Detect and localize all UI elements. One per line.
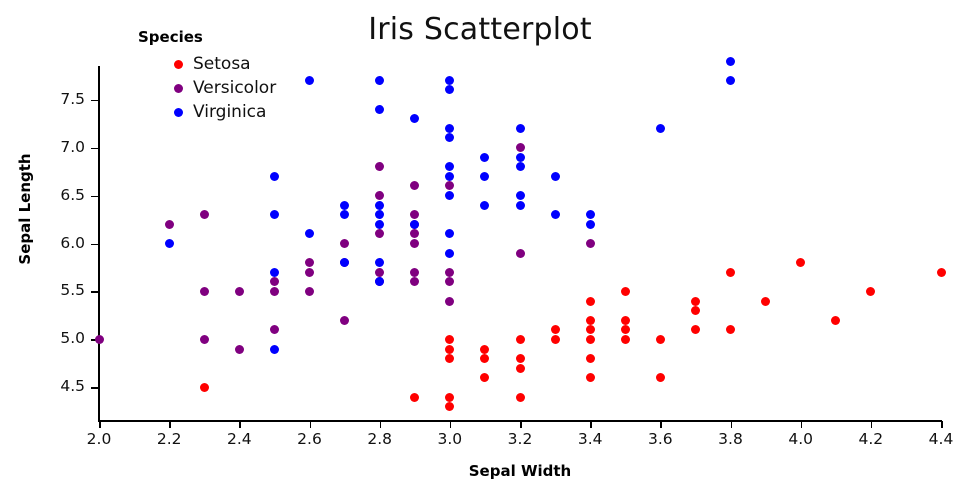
data-point[interactable]: [200, 287, 209, 296]
data-point[interactable]: [691, 297, 700, 306]
legend-marker-icon: [174, 60, 183, 69]
x-tick-mark: [520, 421, 522, 428]
x-tick-label: 4.4: [911, 430, 960, 448]
x-tick-mark: [801, 421, 803, 428]
y-tick-mark: [91, 196, 98, 198]
data-point[interactable]: [410, 268, 419, 277]
data-point[interactable]: [551, 335, 560, 344]
legend-item-label: Versicolor: [193, 78, 276, 98]
data-point[interactable]: [305, 287, 314, 296]
x-tick-label: 3.4: [560, 430, 620, 448]
data-point[interactable]: [445, 345, 454, 354]
data-point[interactable]: [480, 345, 489, 354]
x-tick-mark: [99, 421, 101, 428]
y-tick-label: 5.0: [31, 329, 85, 347]
x-tick-mark: [590, 421, 592, 428]
legend: Species SetosaVersicolorVirginica: [138, 28, 276, 124]
data-point[interactable]: [831, 316, 840, 325]
x-axis-label: Sepal Width: [99, 462, 941, 480]
data-point[interactable]: [516, 201, 525, 210]
data-point[interactable]: [270, 287, 279, 296]
data-point[interactable]: [445, 297, 454, 306]
data-point[interactable]: [621, 287, 630, 296]
data-point[interactable]: [691, 306, 700, 315]
data-point[interactable]: [586, 220, 595, 229]
y-tick-label: 4.5: [31, 377, 85, 395]
data-point[interactable]: [586, 210, 595, 219]
data-point[interactable]: [516, 124, 525, 133]
data-point[interactable]: [305, 76, 314, 85]
data-point[interactable]: [516, 393, 525, 402]
y-tick-mark: [91, 100, 98, 102]
data-point[interactable]: [235, 345, 244, 354]
x-tick-mark: [941, 421, 943, 428]
data-point[interactable]: [95, 335, 104, 344]
x-tick-mark: [450, 421, 452, 428]
x-tick-mark: [380, 421, 382, 428]
legend-item-versicolor[interactable]: Versicolor: [138, 76, 276, 100]
y-axis-label: Sepal Length: [16, 99, 34, 319]
data-point[interactable]: [270, 172, 279, 181]
x-tick-label: 3.2: [490, 430, 550, 448]
data-point[interactable]: [937, 268, 946, 277]
legend-marker-icon: [174, 108, 183, 117]
y-tick-label: 6.0: [31, 234, 85, 252]
data-point[interactable]: [516, 162, 525, 171]
data-point[interactable]: [375, 201, 384, 210]
data-point[interactable]: [516, 191, 525, 200]
data-point[interactable]: [270, 268, 279, 277]
legend-item-setosa[interactable]: Setosa: [138, 52, 276, 76]
x-tick-label: 2.0: [69, 430, 129, 448]
data-point[interactable]: [340, 316, 349, 325]
data-point[interactable]: [586, 239, 595, 248]
data-point[interactable]: [586, 373, 595, 382]
data-point[interactable]: [551, 210, 560, 219]
data-point[interactable]: [375, 268, 384, 277]
legend-title: Species: [138, 28, 276, 46]
y-tick-mark: [91, 148, 98, 150]
x-tick-mark: [871, 421, 873, 428]
y-tick-label: 7.0: [31, 138, 85, 156]
data-point[interactable]: [375, 76, 384, 85]
data-point[interactable]: [200, 210, 209, 219]
data-point[interactable]: [200, 383, 209, 392]
data-point[interactable]: [165, 220, 174, 229]
y-tick-label: 7.5: [31, 90, 85, 108]
x-tick-label: 4.0: [771, 430, 831, 448]
data-point[interactable]: [410, 220, 419, 229]
data-point[interactable]: [445, 393, 454, 402]
x-tick-mark: [169, 421, 171, 428]
x-tick-mark: [660, 421, 662, 428]
y-tick-mark: [91, 387, 98, 389]
data-point[interactable]: [586, 354, 595, 363]
data-point[interactable]: [656, 335, 665, 344]
x-tick-label: 2.4: [209, 430, 269, 448]
data-point[interactable]: [516, 364, 525, 373]
scatterplot-figure: Iris Scatterplot 2.02.22.42.62.83.03.23.…: [0, 0, 960, 500]
data-point[interactable]: [551, 325, 560, 334]
data-point[interactable]: [480, 201, 489, 210]
x-tick-label: 2.2: [139, 430, 199, 448]
x-tick-label: 4.2: [841, 430, 901, 448]
data-point[interactable]: [516, 143, 525, 152]
x-tick-mark: [310, 421, 312, 428]
x-tick-mark: [731, 421, 733, 428]
legend-item-label: Virginica: [193, 102, 266, 122]
legend-item-label: Setosa: [193, 54, 251, 74]
x-tick-mark: [239, 421, 241, 428]
data-point[interactable]: [445, 249, 454, 258]
data-point[interactable]: [621, 335, 630, 344]
data-point[interactable]: [586, 297, 595, 306]
data-point[interactable]: [621, 316, 630, 325]
data-point[interactable]: [656, 124, 665, 133]
data-point[interactable]: [200, 335, 209, 344]
x-tick-label: 2.8: [350, 430, 410, 448]
y-tick-mark: [91, 244, 98, 246]
data-point[interactable]: [586, 325, 595, 334]
x-tick-label: 3.6: [630, 430, 690, 448]
data-point[interactable]: [375, 105, 384, 114]
data-point[interactable]: [516, 354, 525, 363]
data-point[interactable]: [586, 335, 595, 344]
data-point[interactable]: [235, 287, 244, 296]
y-tick-label: 6.5: [31, 186, 85, 204]
legend-entries: SetosaVersicolorVirginica: [138, 52, 276, 124]
x-tick-label: 2.6: [280, 430, 340, 448]
y-tick-label: 5.5: [31, 281, 85, 299]
legend-item-virginica[interactable]: Virginica: [138, 100, 276, 124]
data-point[interactable]: [726, 268, 735, 277]
x-tick-label: 3.8: [701, 430, 761, 448]
data-point[interactable]: [340, 239, 349, 248]
data-point[interactable]: [516, 153, 525, 162]
data-point[interactable]: [726, 57, 735, 66]
data-point[interactable]: [270, 345, 279, 354]
x-tick-label: 3.0: [420, 430, 480, 448]
data-point[interactable]: [551, 172, 560, 181]
data-point[interactable]: [516, 335, 525, 344]
data-point[interactable]: [410, 393, 419, 402]
data-point[interactable]: [516, 249, 525, 258]
data-point[interactable]: [726, 76, 735, 85]
legend-marker-icon: [174, 84, 183, 93]
data-point[interactable]: [340, 201, 349, 210]
data-point[interactable]: [761, 297, 770, 306]
data-point[interactable]: [305, 268, 314, 277]
data-point[interactable]: [165, 239, 174, 248]
data-point[interactable]: [375, 220, 384, 229]
data-point[interactable]: [586, 316, 595, 325]
y-tick-mark: [91, 291, 98, 293]
